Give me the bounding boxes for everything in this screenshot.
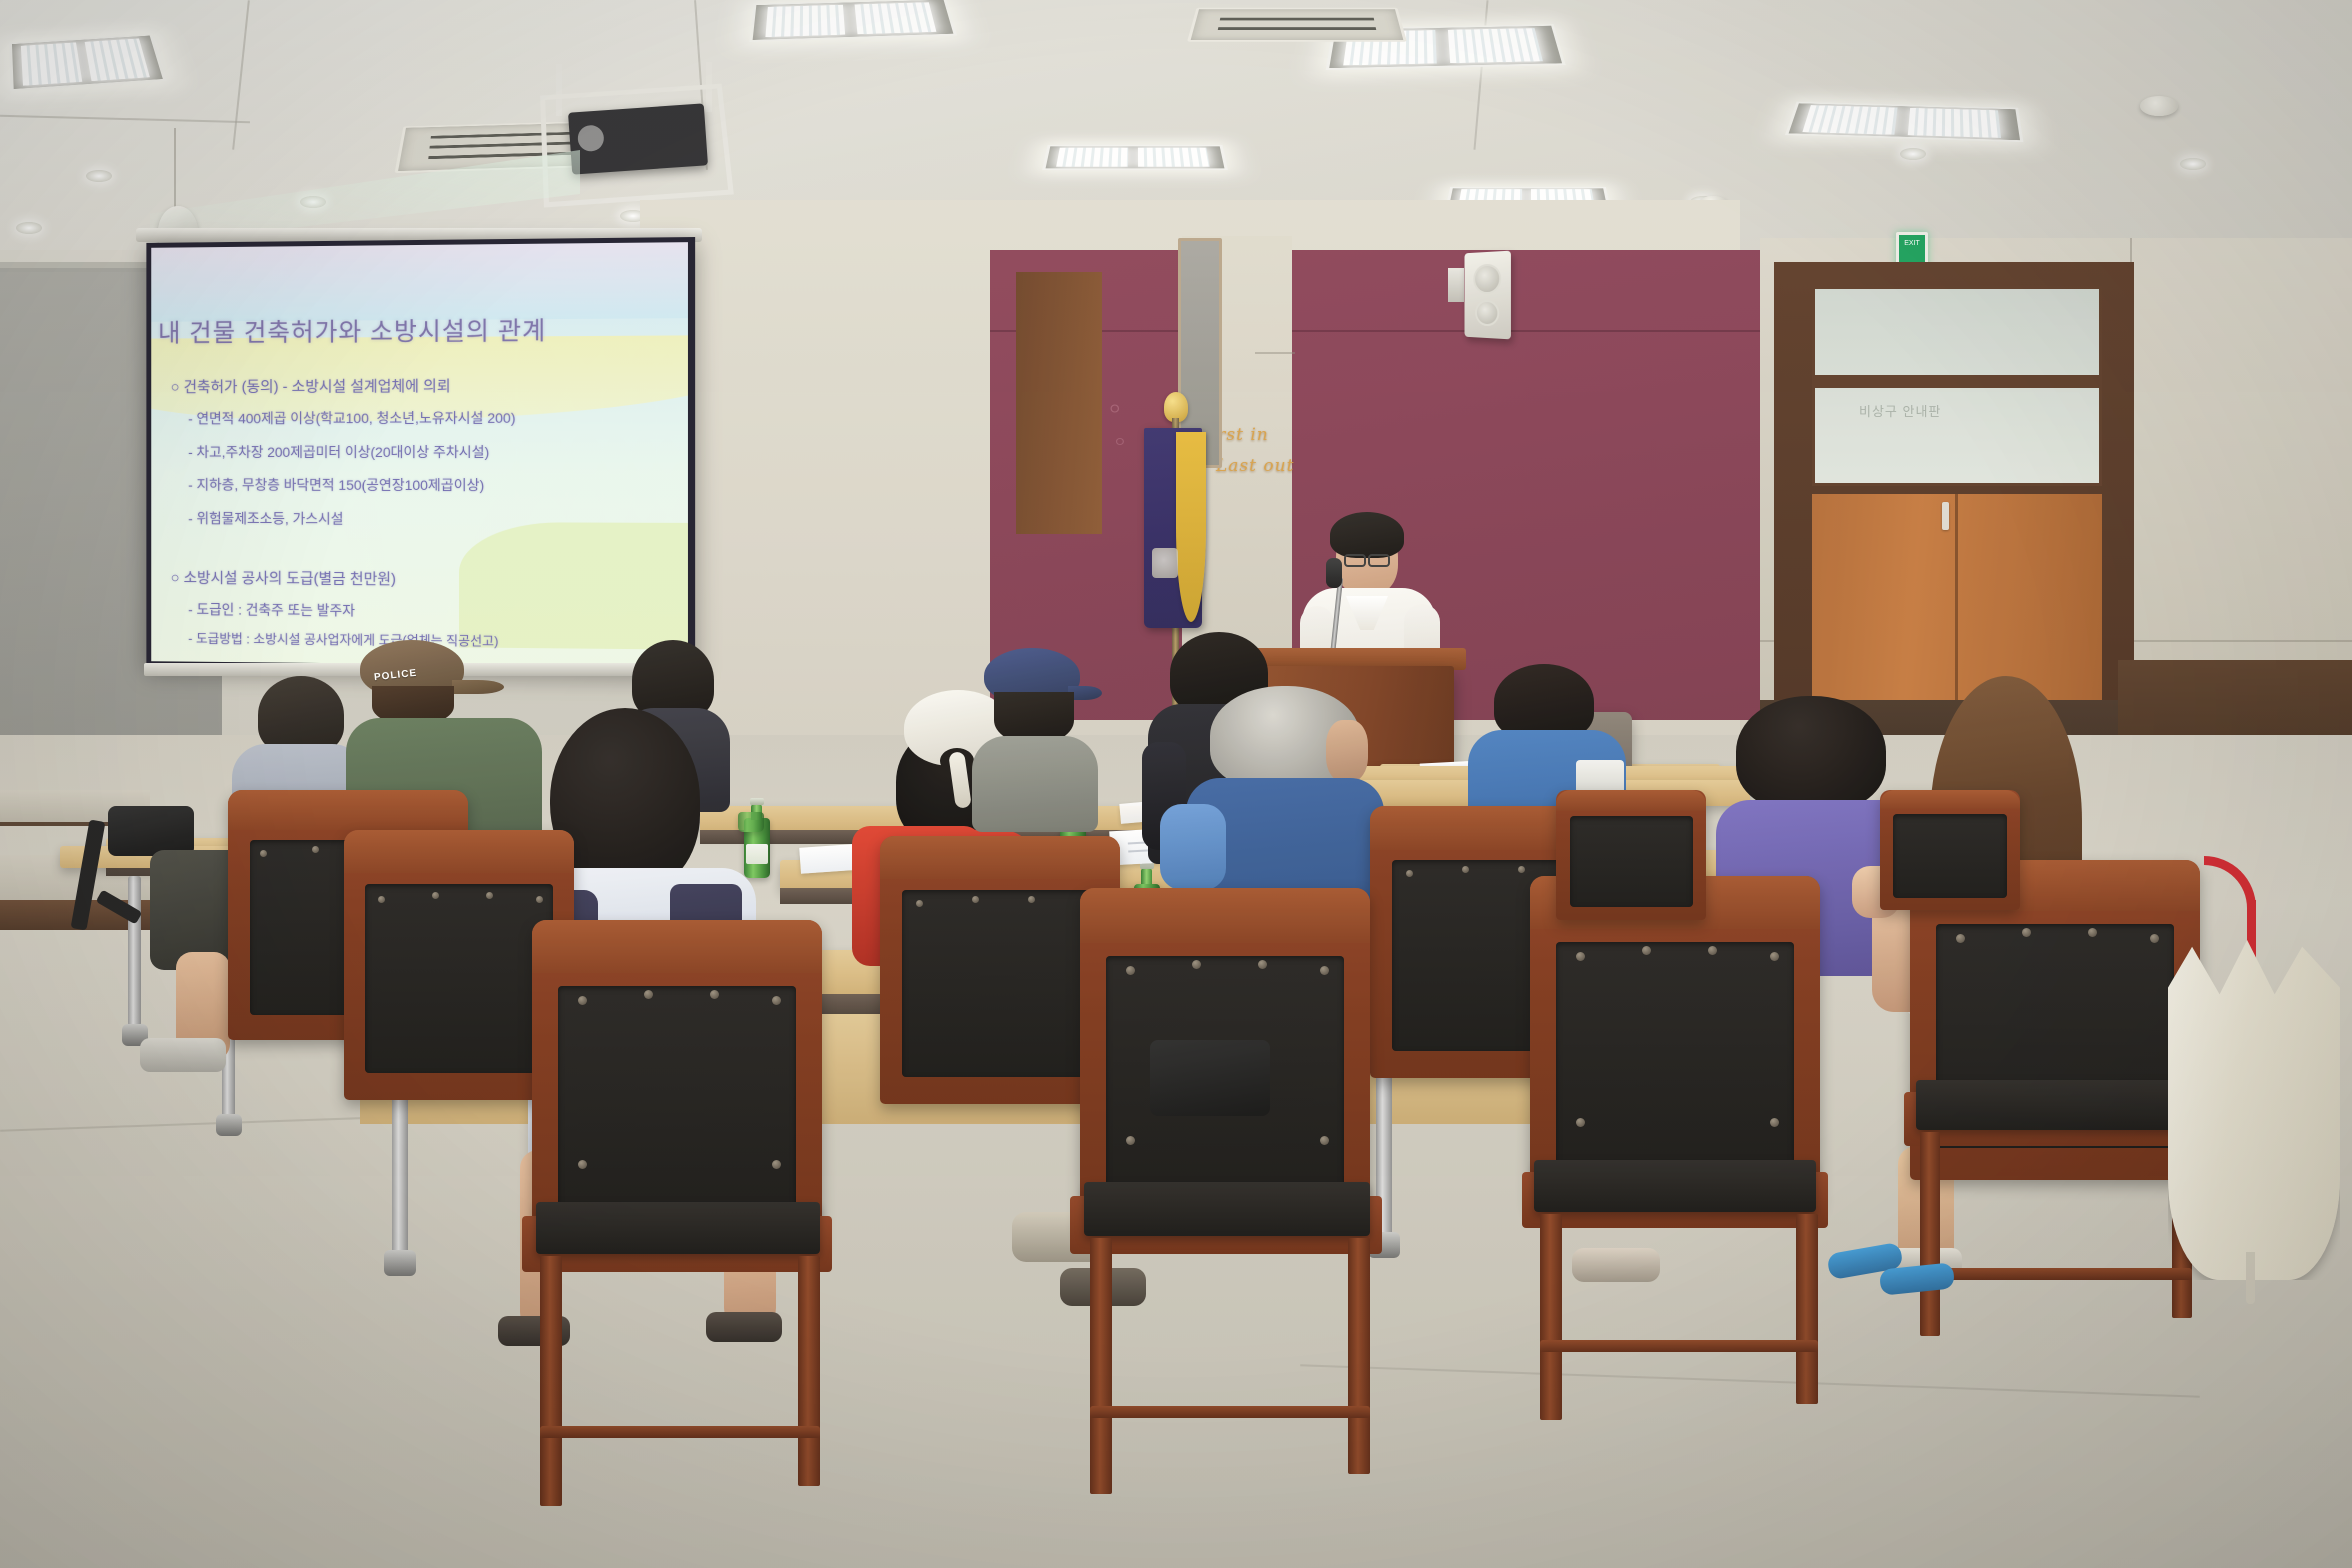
- chair-seat[interactable]: [1916, 1080, 2194, 1130]
- slide-bullet: - 차고,주차장 200제곱미터 이상(20대이상 주차시설): [188, 442, 489, 462]
- projection-screen: 내 건물 건축허가와 소방시설의 관계 ○ 건축허가 (동의) - 소방시설 설…: [146, 237, 695, 673]
- projection-screen-surface: 내 건물 건축허가와 소방시설의 관계 ○ 건축허가 (동의) - 소방시설 설…: [151, 242, 688, 667]
- recessed-downlight: [1900, 148, 1926, 160]
- chair-leg: [1348, 1238, 1370, 1474]
- hair: [1736, 696, 1886, 812]
- attendee-sleeve: [1160, 804, 1226, 890]
- recessed-downlight: [16, 222, 42, 234]
- speaker-bracket: [1448, 268, 1464, 302]
- ear: [1326, 720, 1368, 782]
- attendee-top: [972, 736, 1098, 832]
- attendee-sandal: [706, 1312, 782, 1342]
- smoke-detector: [2140, 96, 2178, 116]
- door-handle[interactable]: [1942, 502, 1949, 530]
- chair-leg: [1920, 1132, 1940, 1336]
- wall-seam: [1255, 352, 1295, 354]
- recessed-downlight: [86, 170, 112, 182]
- slide-bullet: - 도급인 : 건축주 또는 발주자: [188, 599, 355, 620]
- wall-motto-line2: Last out: [1216, 456, 1294, 476]
- bag-under-table[interactable]: [1150, 1040, 1270, 1116]
- attendee-shoe: [1572, 1248, 1660, 1282]
- door-transom-window: 비상구 안내판: [1812, 286, 2102, 486]
- chair-leg: [798, 1256, 820, 1486]
- hair: [1494, 664, 1594, 740]
- presenter-glasses: [1368, 554, 1390, 567]
- ceiling-light-panel: [749, 0, 957, 42]
- ceiling-light-panel: [1785, 102, 2024, 142]
- transom-sign-text: 비상구 안내판: [1859, 401, 1941, 420]
- table-caster: [384, 1250, 416, 1276]
- ceiling-cable: [174, 128, 176, 212]
- flag-fringe: [1176, 432, 1206, 622]
- presenter-glasses: [1344, 554, 1366, 567]
- presenter-hair: [1330, 512, 1404, 558]
- chair-seat[interactable]: [536, 1202, 820, 1254]
- wall-seam: [990, 330, 1770, 332]
- microphone: [1326, 558, 1342, 588]
- chair-seat[interactable]: [1084, 1182, 1370, 1236]
- exit-sign-label: EXIT: [1899, 240, 1925, 248]
- slide-bullet: ○ 소방시설 공사의 도급(별금 천만원): [171, 566, 396, 588]
- attendee-navy-cap: [972, 648, 1100, 830]
- chair-leg: [1540, 1214, 1562, 1420]
- chair-stretcher: [1540, 1340, 1818, 1352]
- seminar-room-photo: First in Last out ㅅ ㅂ ㅇ ㅅ ㅁ ㅇ 내 건물 건축허가와…: [0, 0, 2352, 1568]
- chair-leg: [540, 1256, 562, 1506]
- chair-front-left[interactable]: [532, 920, 822, 1250]
- umbrella-canopy[interactable]: [2168, 940, 2340, 1280]
- back-door[interactable]: [1016, 272, 1102, 534]
- chair-stretcher: [540, 1426, 820, 1438]
- attendee-shoe: [140, 1038, 226, 1072]
- cap-brim: [452, 680, 504, 694]
- wall-speaker: [1465, 251, 1511, 340]
- chair-leg: [1796, 1214, 1818, 1404]
- chair-back-center-right[interactable]: [1556, 790, 1706, 920]
- umbrella-tip: [2246, 1252, 2255, 1304]
- chair-leg: [1090, 1238, 1112, 1494]
- chair-seat[interactable]: [1534, 1160, 1816, 1212]
- bottle-neck: [1141, 868, 1152, 884]
- chair-back-right[interactable]: [1880, 790, 2020, 910]
- flag-emblem: [1152, 548, 1178, 578]
- backpack[interactable]: [108, 806, 194, 856]
- chair-front-right[interactable]: [1530, 876, 1820, 1206]
- table-caster: [216, 1114, 242, 1136]
- slide-bullet: - 지하층, 무창층 바닥면적 150(공연장100제곱이상): [188, 475, 484, 495]
- ac-ceiling-vent: [1187, 8, 1407, 42]
- projector: [568, 103, 708, 174]
- recessed-downlight: [2180, 158, 2206, 170]
- slide-title: 내 건물 건축허가와 소방시설의 관계: [158, 311, 546, 349]
- table-leg: [128, 876, 141, 1026]
- chair-stretcher: [1090, 1406, 1370, 1418]
- slide-bullet: ○ 건축허가 (동의) - 소방시설 설계업체에 의뢰: [171, 375, 451, 397]
- chair-stretcher: [1920, 1268, 2192, 1280]
- slide-bullet: - 위험물제조소등, 가스시설: [188, 508, 343, 528]
- hair: [258, 676, 344, 754]
- ceiling-light-panel: [1042, 145, 1228, 170]
- slide-bullet: - 연면적 400제곱 이상(학교100, 청소년,노유자시설 200): [188, 408, 515, 429]
